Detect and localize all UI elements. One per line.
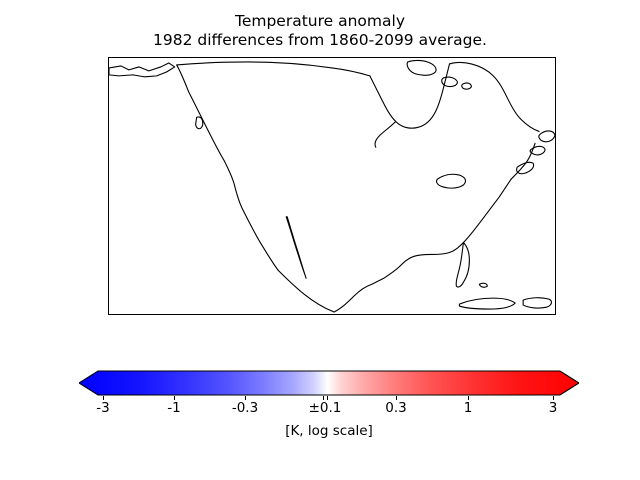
colorbar-ticklabel-6: 3 <box>549 400 558 416</box>
map-axes <box>108 57 556 315</box>
colorbar-ticklabel-0: -3 <box>96 400 109 416</box>
colorbar-ticklabel-5: 1 <box>464 400 473 416</box>
colorbar-gradient <box>79 370 579 396</box>
chart-title-line-1: Temperature anomaly <box>0 12 640 31</box>
chart-title-line-2: 1982 differences from 1860-2099 average. <box>0 31 640 50</box>
chart-title: Temperature anomaly 1982 differences fro… <box>0 12 640 50</box>
colorbar-tick-group: -3 -1 -0.3 ±0.1 0.3 1 3 <box>79 396 579 418</box>
colorbar-axis-label: [K, log scale] <box>79 423 579 439</box>
temperature-anomaly-heatmap <box>109 58 555 314</box>
figure-canvas: Temperature anomaly 1982 differences fro… <box>0 0 640 480</box>
colorbar-ticklabel-2: -0.3 <box>232 400 258 416</box>
colorbar-body <box>79 371 579 395</box>
colorbar <box>79 370 579 396</box>
colorbar-ticklabel-1: -1 <box>167 400 180 416</box>
colorbar-ticklabel-3: ±0.1 <box>309 400 342 416</box>
colorbar-ticklabel-4: 0.3 <box>385 400 406 416</box>
